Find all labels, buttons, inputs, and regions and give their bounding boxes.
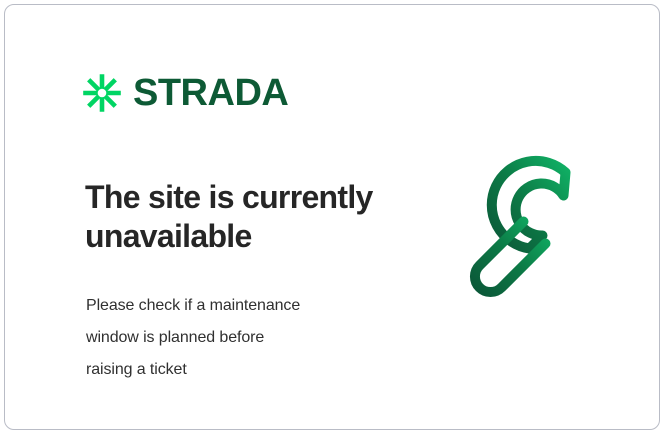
strada-asterisk-icon xyxy=(81,72,123,114)
description-line: window is planned before xyxy=(86,322,386,354)
description-line: Please check if a maintenance xyxy=(86,290,386,322)
brand-logo: STRADA xyxy=(81,72,288,114)
description-line: raising a ticket xyxy=(86,354,386,386)
brand-wordmark: STRADA xyxy=(133,74,288,112)
wrench-icon xyxy=(457,155,622,320)
page-description: Please check if a maintenance window is … xyxy=(86,290,386,386)
status-page-card: STRADA The site is currently unavailable… xyxy=(4,4,660,430)
page-title: The site is currently unavailable xyxy=(85,178,415,256)
